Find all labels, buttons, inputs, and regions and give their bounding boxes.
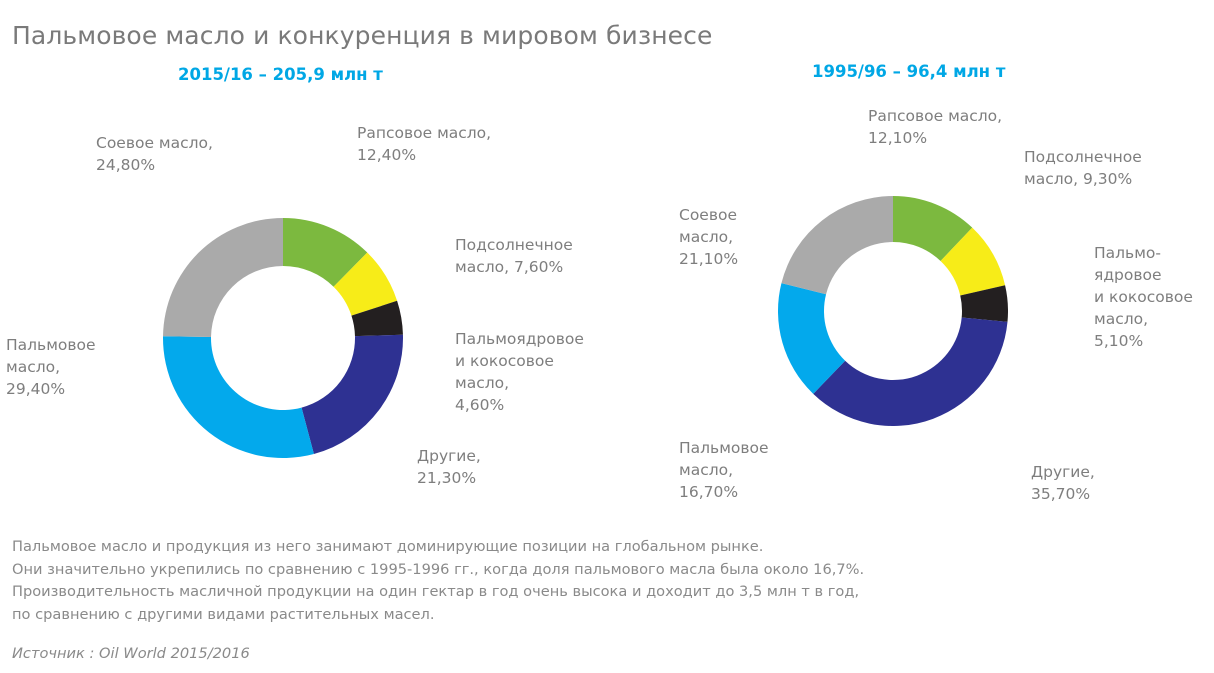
label-left-palm-kernel: Пальмоядровое и кокосовое масло, 4,60% — [455, 328, 584, 416]
donut-slice — [781, 196, 893, 294]
donut-slice — [163, 336, 314, 458]
donut-slice — [813, 317, 1007, 426]
label-left-sunflower: Подсолнечное масло, 7,60% — [455, 234, 573, 278]
label-right-sunflower: Подсолнечное масло, 9,30% — [1024, 146, 1142, 190]
page-title: Пальмовое масло и конкуренция в мировом … — [12, 21, 712, 50]
label-left-palm: Пальмовое масло, 29,40% — [6, 334, 96, 400]
label-right-palm-kernel: Пальмо- ядровое и кокосовое масло, 5,10% — [1094, 242, 1193, 352]
donut-slice — [163, 218, 283, 337]
label-left-soybean: Соевое масло, 24,80% — [96, 132, 213, 176]
label-right-palm: Пальмовое масло, 16,70% — [679, 437, 769, 503]
donut-chart-1995-96 — [778, 196, 1008, 426]
donut-chart-2015-16 — [163, 218, 403, 458]
label-left-others: Другие, 21,30% — [417, 445, 481, 489]
donut-svg-2015-16 — [163, 218, 403, 458]
label-right-others: Другие, 35,70% — [1031, 461, 1095, 505]
donut-slice — [302, 335, 403, 454]
label-right-soybean: Соевое масло, 21,10% — [679, 204, 738, 270]
source-note: Источник : Oil World 2015/2016 — [12, 645, 250, 662]
donut-svg-1995-96 — [778, 196, 1008, 426]
label-left-rapeseed: Рапсовое масло, 12,40% — [357, 122, 491, 166]
chart-title-1995-96: 1995/96 – 96,4 млн т — [812, 62, 1005, 81]
label-right-rapeseed: Рапсовое масло, 12,10% — [868, 105, 1002, 149]
chart-title-2015-16: 2015/16 – 205,9 млн т — [178, 65, 383, 84]
description-text: Пальмовое масло и продукция из него зани… — [12, 536, 864, 626]
